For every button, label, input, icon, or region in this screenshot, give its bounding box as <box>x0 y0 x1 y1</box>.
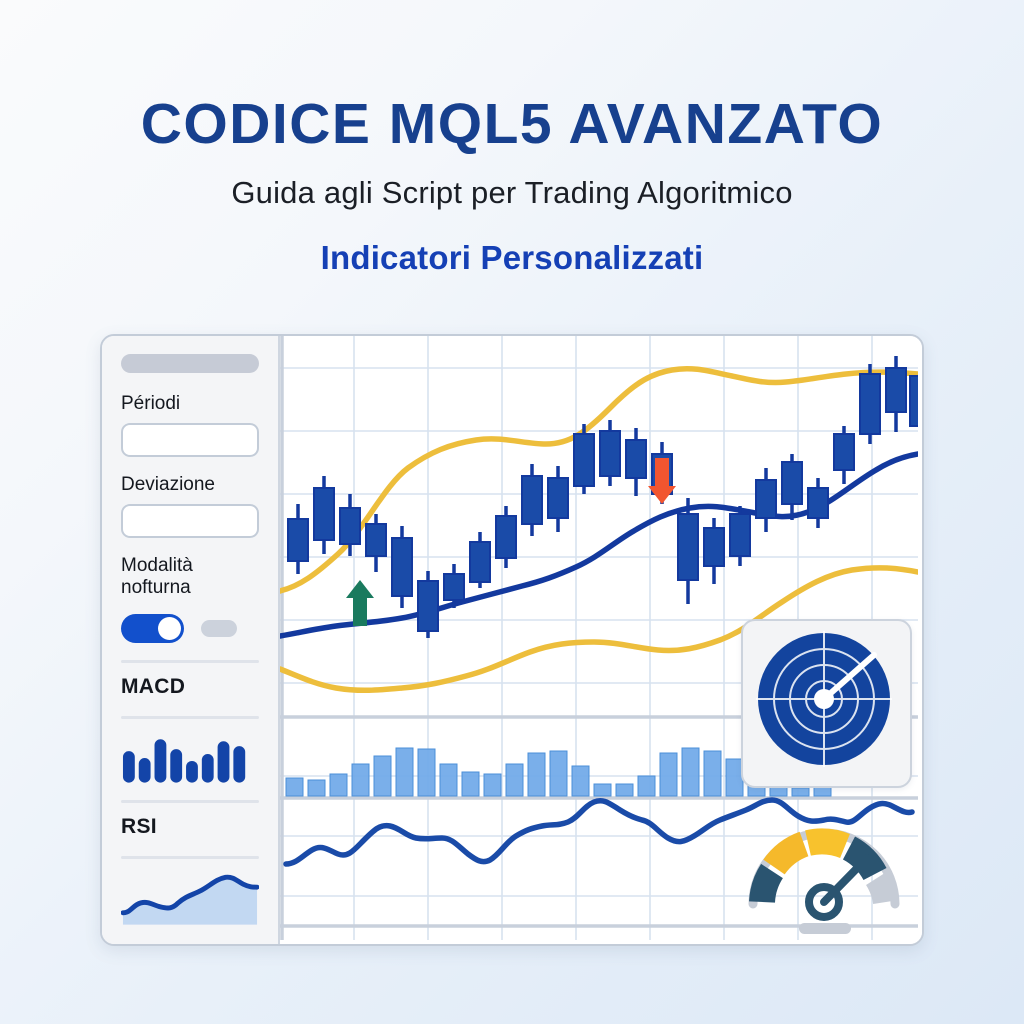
deviazione-input[interactable] <box>121 504 259 538</box>
sidebar-divider-3 <box>121 800 259 803</box>
gauge-icon <box>741 798 908 934</box>
rsi-mini-area-chart-icon[interactable] <box>121 871 259 925</box>
candle <box>834 426 854 484</box>
candle <box>470 532 490 588</box>
gauge-widget[interactable] <box>741 798 908 934</box>
sidebar-divider-4 <box>121 856 259 859</box>
candle <box>860 364 880 444</box>
candle <box>548 466 568 532</box>
night-mode-label: Modalità nofturna <box>121 555 259 600</box>
candle <box>730 506 750 566</box>
periodi-label: Périodi <box>121 393 259 415</box>
candle <box>418 571 438 638</box>
radar-widget[interactable] <box>741 619 912 788</box>
sidebar-divider-1 <box>121 660 259 663</box>
poster-heading-group: CODICE MQL5 AVANZATO Guida agli Script p… <box>0 95 1024 277</box>
night-mode-label-line1: Modalità <box>121 555 259 577</box>
deviazione-label: Deviazione <box>121 474 259 496</box>
night-mode-label-line2: nofturna <box>121 577 259 599</box>
trading-app-window: Périodi Deviazione Modalità nofturna MAC… <box>100 334 924 946</box>
candle <box>808 478 828 528</box>
poster-canvas: CODICE MQL5 AVANZATO Guida agli Script p… <box>0 0 1024 1024</box>
candle <box>392 526 412 608</box>
page-title: CODICE MQL5 AVANZATO <box>0 95 1024 153</box>
buy-signal-arrow-up-icon <box>346 580 374 626</box>
secondary-toggle-placeholder[interactable] <box>201 620 237 637</box>
radar-icon <box>743 621 906 782</box>
candle <box>366 514 386 572</box>
page-tagline: Indicatori Personalizzati <box>0 239 1024 277</box>
periodi-input[interactable] <box>121 423 259 457</box>
night-mode-toggle[interactable] <box>121 614 184 643</box>
candle <box>678 498 698 604</box>
page-subtitle: Guida agli Script per Trading Algoritmic… <box>0 175 1024 211</box>
candle <box>704 518 724 584</box>
chart-area[interactable] <box>280 336 922 944</box>
candle <box>886 356 906 432</box>
candle <box>600 420 620 486</box>
candle <box>314 476 334 554</box>
candle <box>288 504 308 574</box>
rsi-section-label: RSI <box>121 815 259 839</box>
candle <box>756 468 776 532</box>
candle <box>910 366 918 448</box>
macd-section-label: MACD <box>121 675 259 699</box>
sidebar-header-placeholder <box>121 354 259 373</box>
night-mode-toggle-row <box>121 614 259 643</box>
toggle-knob <box>158 617 181 640</box>
macd-mini-bar-chart-icon[interactable] <box>121 731 259 783</box>
candle <box>626 428 646 496</box>
settings-sidebar: Périodi Deviazione Modalità nofturna MAC… <box>102 336 280 944</box>
candle <box>522 464 542 536</box>
candle <box>782 454 802 520</box>
candle <box>496 506 516 568</box>
candle <box>574 424 594 494</box>
sidebar-divider-2 <box>121 716 259 719</box>
